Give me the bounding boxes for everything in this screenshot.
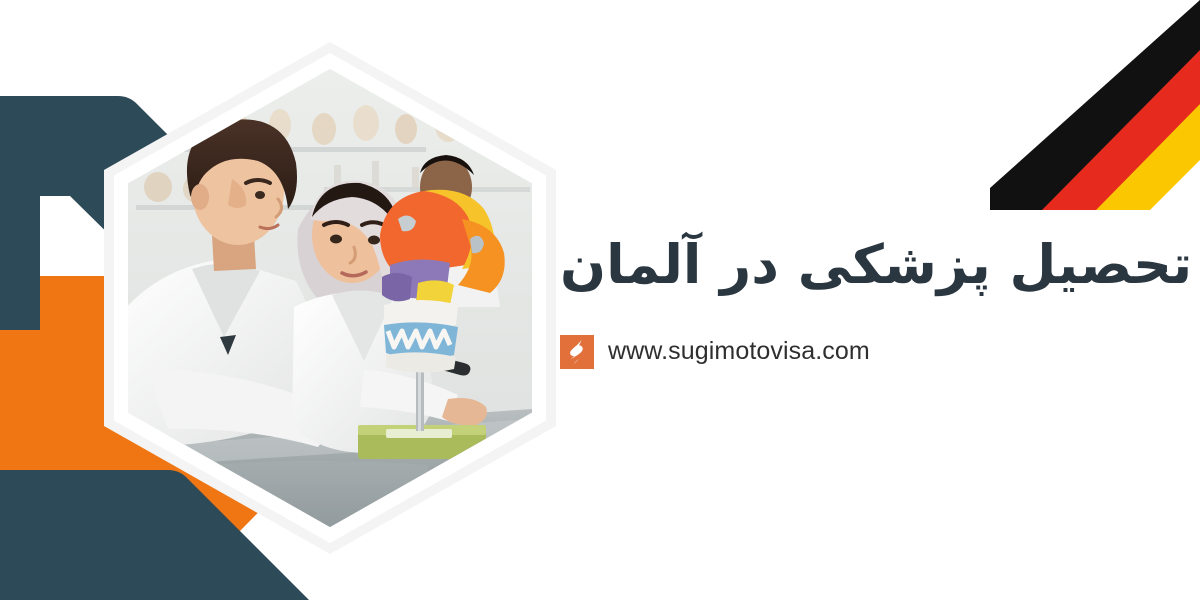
website-url-row[interactable]: www.sugimotovisa.com xyxy=(560,335,870,369)
sugimoto-flame-logo-icon xyxy=(560,335,594,369)
promotional-banner: تحصیل پزشکی در آلمان www.sugimotovisa.co… xyxy=(0,0,1200,600)
banner-content: تحصیل پزشکی در آلمان www.sugimotovisa.co… xyxy=(560,0,1160,600)
website-url-text[interactable]: www.sugimotovisa.com xyxy=(608,337,870,366)
teal-top-fill xyxy=(0,96,40,330)
hexagon-photo-badge xyxy=(104,42,556,554)
page-title: تحصیل پزشکی در آلمان xyxy=(560,231,1192,299)
